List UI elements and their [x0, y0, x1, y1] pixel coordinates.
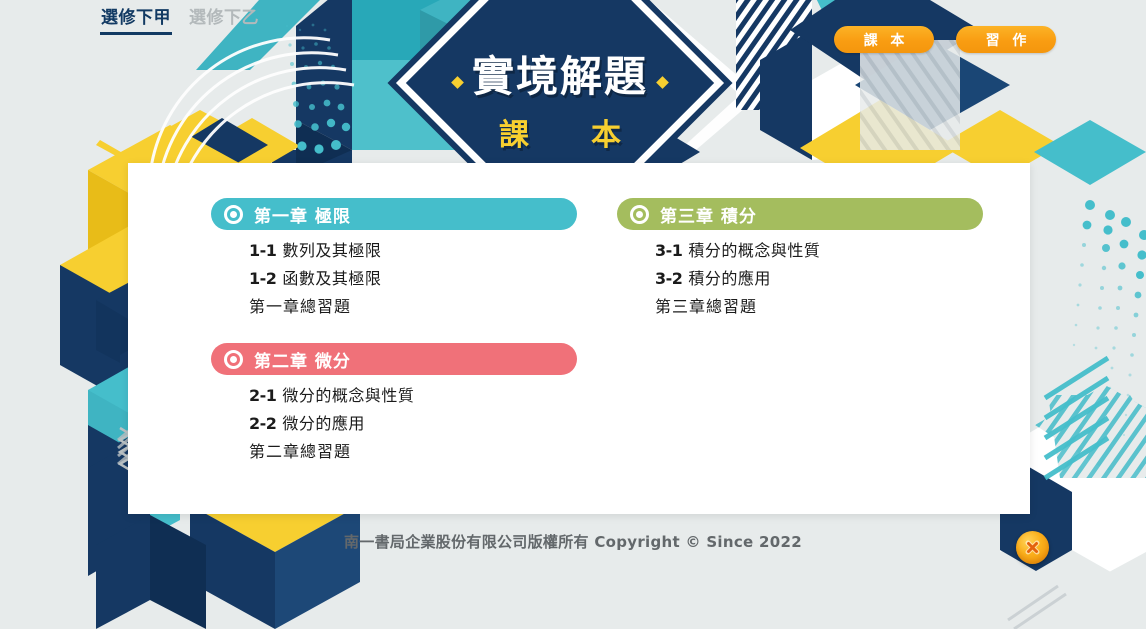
chapter-2-header[interactable]: 第二章 微分 [211, 343, 577, 375]
section-title: 積分的應用 [688, 269, 771, 288]
section-title: 微分的應用 [282, 414, 365, 433]
chapter-column-right: 第三章 積分 3-1積分的概念與性質 3-2積分的應用 第三章總習題 [579, 198, 1030, 488]
section-number: 1-2 [249, 269, 276, 288]
tab-label: 選修下乙 [189, 8, 259, 28]
section-number: 3-2 [655, 269, 682, 288]
section-1-review[interactable]: 第一章總習題 [249, 293, 579, 321]
section-3-1[interactable]: 3-1積分的概念與性質 [655, 237, 1030, 265]
target-circle-icon [630, 205, 649, 224]
section-title: 微分的概念與性質 [282, 386, 414, 405]
table-of-contents-card: 第一章 極限 1-1數列及其極限 1-2函數及其極限 第一章總習題 [128, 163, 1030, 514]
textbook-button[interactable]: 課 本 [834, 26, 934, 53]
section-title: 數列及其極限 [282, 241, 381, 260]
chapter-3: 第三章 積分 3-1積分的概念與性質 3-2積分的應用 第三章總習題 [617, 198, 1030, 321]
tab-xuanxiu-xia-jia[interactable]: 選修下甲 [100, 8, 172, 35]
chapter-3-title: 第三章 積分 [660, 202, 757, 227]
workbook-button[interactable]: 習 作 [956, 26, 1056, 53]
workbook-button-label: 習 作 [982, 30, 1031, 50]
section-3-review[interactable]: 第三章總習題 [655, 293, 1030, 321]
chapter-1-title: 第一章 極限 [254, 202, 351, 227]
section-1-1[interactable]: 1-1數列及其極限 [249, 237, 579, 265]
close-icon [1024, 539, 1041, 556]
chapter-2-title: 第二章 微分 [254, 347, 351, 372]
tab-label: 選修下甲 [101, 8, 171, 28]
chapter-1-sections: 1-1數列及其極限 1-2函數及其極限 第一章總習題 [211, 237, 579, 321]
section-number: 2-2 [249, 414, 276, 433]
chapter-columns: 第一章 極限 1-1數列及其極限 1-2函數及其極限 第一章總習題 [128, 198, 1030, 488]
course-tabs: 選修下甲 選修下乙 [100, 8, 260, 35]
target-circle-icon [224, 350, 243, 369]
chapter-1: 第一章 極限 1-1數列及其極限 1-2函數及其極限 第一章總習題 [211, 198, 579, 321]
section-number: 3-1 [655, 241, 682, 260]
textbook-button-label: 課 本 [860, 30, 909, 50]
section-2-2[interactable]: 2-2微分的應用 [249, 410, 579, 438]
material-type-buttons: 課 本 習 作 [834, 26, 1056, 53]
section-2-review[interactable]: 第二章總習題 [249, 438, 579, 466]
section-number: 1-1 [249, 241, 276, 260]
chapter-1-header[interactable]: 第一章 極限 [211, 198, 577, 230]
chapter-3-sections: 3-1積分的概念與性質 3-2積分的應用 第三章總習題 [617, 237, 1030, 321]
chapter-2-sections: 2-1微分的概念與性質 2-2微分的應用 第二章總習題 [211, 382, 579, 466]
close-button[interactable] [1016, 531, 1049, 564]
section-title: 第二章總習題 [249, 442, 351, 461]
section-number: 2-1 [249, 386, 276, 405]
section-title: 第一章總習題 [249, 297, 351, 316]
section-1-2[interactable]: 1-2函數及其極限 [249, 265, 579, 293]
section-3-2[interactable]: 3-2積分的應用 [655, 265, 1030, 293]
app-root: 選修下甲 選修下乙 課 本 習 作 實境解題 課 本 [0, 0, 1146, 629]
target-circle-icon [224, 205, 243, 224]
section-title: 積分的概念與性質 [688, 241, 820, 260]
section-2-1[interactable]: 2-1微分的概念與性質 [249, 382, 579, 410]
section-title: 第三章總習題 [655, 297, 757, 316]
section-title: 函數及其極限 [282, 269, 381, 288]
chapter-3-header[interactable]: 第三章 積分 [617, 198, 983, 230]
tab-xuanxiu-xia-yi[interactable]: 選修下乙 [188, 8, 260, 35]
chapter-2: 第二章 微分 2-1微分的概念與性質 2-2微分的應用 第二章總習題 [211, 343, 579, 466]
copyright-footer: 南一書局企業股份有限公司版權所有 Copyright © Since 2022 [0, 531, 1146, 552]
chapter-column-left: 第一章 極限 1-1數列及其極限 1-2函數及其極限 第一章總習題 [128, 198, 579, 488]
